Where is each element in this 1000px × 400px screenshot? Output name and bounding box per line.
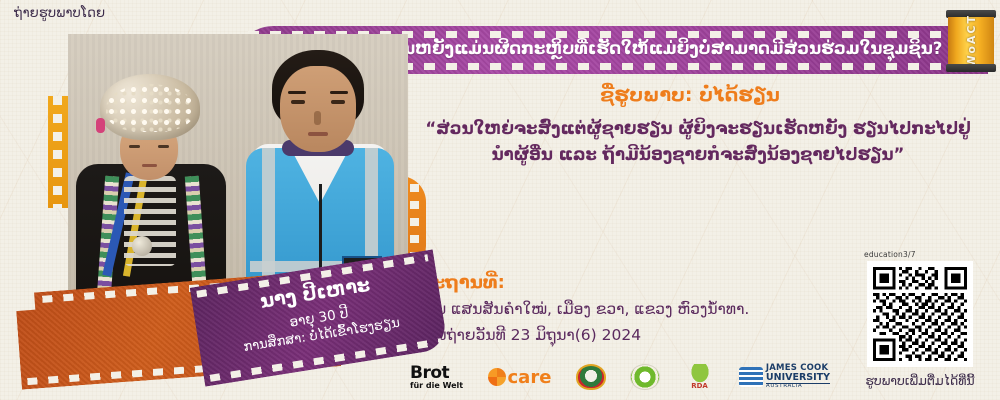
rda-leaf-icon: RDA xyxy=(685,364,715,390)
logo-james-cook-university: JAMES COOK UNIVERSITY AUSTRALIA xyxy=(739,364,830,390)
story-quote-line-1: “ສ່ວນໃຫຍ່ຈະສົ່ງແຕ່ຜູ້ຊາຍຮຽນ ຜູ້ຍິງຈະຮຽນເ… xyxy=(408,116,988,142)
capture-date: ຖານຖ່າຍວັນທີ 23 ມິຖຸນາ(6) 2024 xyxy=(418,326,641,344)
logo-brot-fur-die-welt: Brot für die Welt xyxy=(410,365,463,390)
jcu-wave-icon xyxy=(739,367,763,387)
qr-code-svg xyxy=(873,267,967,361)
qr-caption: education3/7 xyxy=(864,250,988,259)
qr-code[interactable] xyxy=(867,261,973,367)
person-right-brow-left xyxy=(288,91,306,94)
person-left-silver-coin xyxy=(132,236,152,256)
jcu-logo-line3: AUSTRALIA xyxy=(766,384,830,390)
logo-lao-government xyxy=(576,364,606,390)
person-left-silver-necklace xyxy=(124,176,176,266)
person-left-pink-pompom xyxy=(96,118,105,133)
logo-unicef-partner xyxy=(630,364,660,390)
qr-note-label: ຮູບພາບເພີ່ມຕື່ມໄດ້ທີ່ນີ້ xyxy=(852,373,988,388)
story-quote: “ສ່ວນໃຫຍ່ຈະສົ່ງແຕ່ຜູ້ຊາຍຮຽນ ຜູ້ຍິງຈະຮຽນເ… xyxy=(408,116,988,168)
story-quote-line-2: ນຳຜູ້ອື່ນ ແລະ ຖ້າມີນ້ອງຊາຍກໍຈະສົ່ງນ້ອງຊາ… xyxy=(408,142,988,168)
photographer-credit-label: ຖ່າຍຮູບພາບໂດຍ xyxy=(14,6,105,21)
partner-logo-row: Brot für die Welt care RDA JAMES COOK UN… xyxy=(410,360,830,394)
brot-logo-line2: für die Welt xyxy=(410,382,463,390)
film-canister-badge: WoACT xyxy=(946,10,996,72)
brot-logo-line1: Brot xyxy=(410,365,463,382)
person-right-nose xyxy=(314,111,321,125)
person-right-face xyxy=(280,66,356,152)
unicef-partner-icon xyxy=(630,364,660,390)
person-right-eye-right xyxy=(331,100,345,104)
person-left-beaded-headdress xyxy=(100,74,200,140)
photo-title: ຊື່ຮູບພາບ: ບໍ່ໄດ້ຮຽນ xyxy=(420,84,960,106)
logo-rda: RDA xyxy=(685,364,715,390)
location-address: ບ້ານ ແສນສັນຄຳໃໝ່, ເມືອງ ຂວາ, ແຂວງ ຫົວງນ້… xyxy=(418,300,749,318)
canister-body: WoACT xyxy=(948,17,994,65)
canister-label: WoACT xyxy=(965,14,978,67)
care-logo-text: care xyxy=(508,367,552,388)
person-left-mouth xyxy=(142,164,157,167)
rda-logo-text: RDA xyxy=(691,382,708,390)
lao-emblem-icon xyxy=(576,364,606,390)
canister-cap-bottom-icon xyxy=(946,64,996,72)
person-right-brow-right xyxy=(330,91,348,94)
person-right-eye-left xyxy=(291,100,305,104)
person-right-mouth xyxy=(308,132,328,136)
care-mark-icon xyxy=(488,368,506,386)
qr-code-pattern xyxy=(873,267,967,361)
logo-care: care xyxy=(488,367,552,388)
qr-block[interactable]: education3/7 xyxy=(852,250,988,388)
photo-story-poster: ຖ່າຍຮູບພາບໂດຍ ຄຳຖາມທີ່ໃຊ້: ແມ່ນຫຍັງແມ່ນຜ… xyxy=(0,0,1000,400)
